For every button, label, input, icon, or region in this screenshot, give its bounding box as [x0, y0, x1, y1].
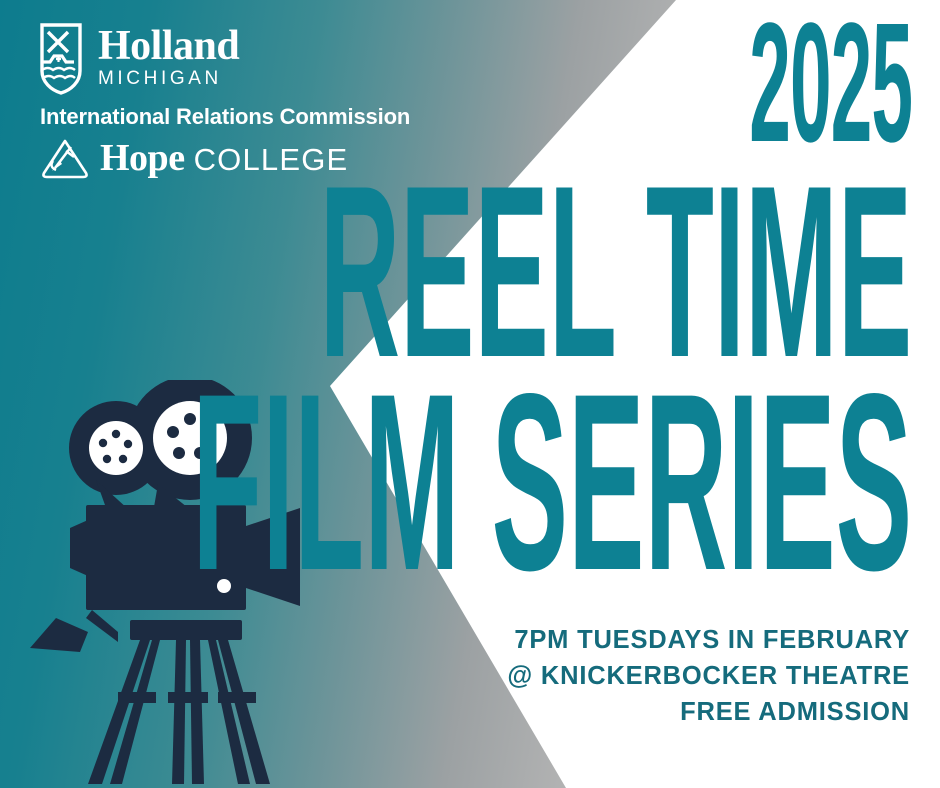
headline-line-film-series: FILM SERIES — [192, 380, 912, 587]
tripod-head — [130, 620, 242, 640]
poster-canvas: Holland MICHIGAN International Relations… — [0, 0, 940, 788]
event-admission: FREE ADMISSION — [507, 694, 910, 730]
event-venue: @ KNICKERBOCKER THEATRE — [507, 658, 910, 694]
headline-block: 2025 REEL TIME FILM SERIES — [0, 0, 912, 586]
event-details-block: 7PM TUESDAYS IN FEBRUARY @ KNICKERBOCKER… — [507, 622, 910, 731]
event-time-and-days: 7PM TUESDAYS IN FEBRUARY — [507, 622, 910, 658]
